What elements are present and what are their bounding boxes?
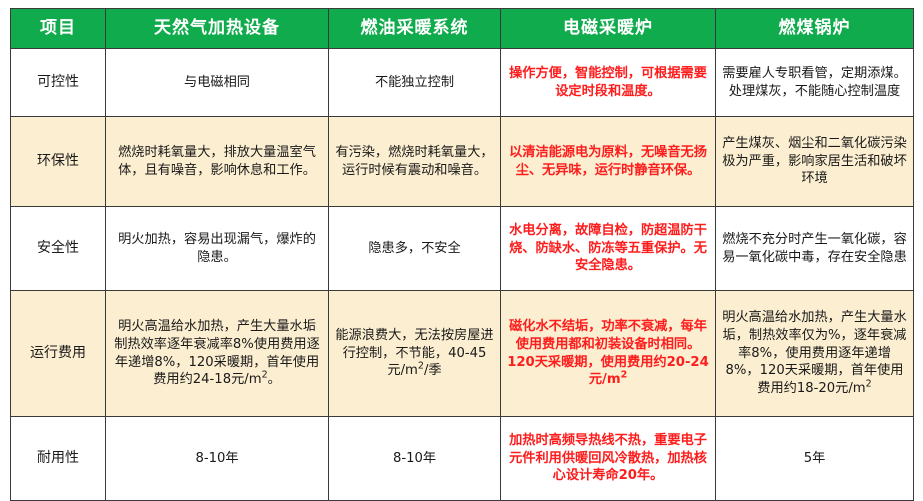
- cell-environmental-gas: 燃烧时耗氧量大，排放大量温室气体，且有噪音，影响休息和工作。: [106, 117, 329, 207]
- cell-controllability-electromagnetic: 操作方便，智能控制，可根据需要设定时段和温度。: [501, 49, 716, 117]
- cell-safety-coal: 燃烧不充分时产生一氧化碳，容易一氧化碳中毒，存在安全隐患: [716, 207, 914, 291]
- row-label-controllability: 可控性: [11, 49, 106, 117]
- row-label-environmental: 环保性: [11, 117, 106, 207]
- table-row: 耐用性 8-10年 8-10年 加热时高频导热线不热，重要电子元件利用供暖回风冷…: [11, 417, 914, 501]
- heating-comparison-table: 项目 天然气加热设备 燃油采暖系统 电磁采暖炉 燃煤锅炉 可控性 与电磁相同 不…: [10, 8, 914, 501]
- cell-operating-cost-electromagnetic: 磁化水不结垢，功率不衰减，每年使用费用都和初装设备时相同。120天采暖期，使用费…: [501, 291, 716, 417]
- cell-safety-gas: 明火加热，容易出现漏气，爆炸的隐患。: [106, 207, 329, 291]
- cell-safety-oil: 隐患多，不安全: [329, 207, 501, 291]
- row-label-safety: 安全性: [11, 207, 106, 291]
- column-header-oil: 燃油采暖系统: [329, 9, 501, 49]
- column-header-gas: 天然气加热设备: [106, 9, 329, 49]
- header-row: 项目 天然气加热设备 燃油采暖系统 电磁采暖炉 燃煤锅炉: [11, 9, 914, 49]
- column-header-coal: 燃煤锅炉: [716, 9, 914, 49]
- cell-operating-cost-oil: 能源浪费大，无法按房屋进行控制，不节能，40-45元/m2/季: [329, 291, 501, 417]
- cell-controllability-gas: 与电磁相同: [106, 49, 329, 117]
- row-label-operating-cost: 运行费用: [11, 291, 106, 417]
- column-header-item: 项目: [11, 9, 106, 49]
- table-row: 安全性 明火加热，容易出现漏气，爆炸的隐患。 隐患多，不安全 水电分离，故障自检…: [11, 207, 914, 291]
- cell-safety-electromagnetic: 水电分离，故障自检，防超温防干烧、防缺水、防冻等五重保护。无安全隐患。: [501, 207, 716, 291]
- cell-durability-oil: 8-10年: [329, 417, 501, 501]
- table-row: 可控性 与电磁相同 不能独立控制 操作方便，智能控制，可根据需要设定时段和温度。…: [11, 49, 914, 117]
- cell-environmental-coal: 产生煤灰、烟尘和二氧化碳污染极为严重，影响家居生活和破坏环境: [716, 117, 914, 207]
- cell-environmental-electromagnetic: 以清洁能源电为原料，无噪音无扬尘、无异味，运行时静音环保。: [501, 117, 716, 207]
- cell-controllability-coal: 需要雇人专职看管，定期添煤。处理煤灰，不能随心控制温度: [716, 49, 914, 117]
- cell-durability-electromagnetic: 加热时高频导热线不热，重要电子元件利用供暖回风冷散热，加热核心设计寿命20年。: [501, 417, 716, 501]
- cell-operating-cost-coal: 明火高温给水加热，产生大量水垢，制热效率仅为%，逐年衰减率8%，使用费用逐年递增…: [716, 291, 914, 417]
- page-root: 项目 天然气加热设备 燃油采暖系统 电磁采暖炉 燃煤锅炉 可控性 与电磁相同 不…: [0, 0, 923, 501]
- row-label-durability: 耐用性: [11, 417, 106, 501]
- cell-operating-cost-gas: 明火高温给水加热，产生大量水垢制热效率逐年衰减率8%使用费用逐年递增8%，120…: [106, 291, 329, 417]
- column-header-electromagnetic: 电磁采暖炉: [501, 9, 716, 49]
- table-header: 项目 天然气加热设备 燃油采暖系统 电磁采暖炉 燃煤锅炉: [11, 9, 914, 49]
- cell-controllability-oil: 不能独立控制: [329, 49, 501, 117]
- table-row: 环保性 燃烧时耗氧量大，排放大量温室气体，且有噪音，影响休息和工作。 有污染，燃…: [11, 117, 914, 207]
- cell-durability-coal: 5年: [716, 417, 914, 501]
- cell-durability-gas: 8-10年: [106, 417, 329, 501]
- table-body: 可控性 与电磁相同 不能独立控制 操作方便，智能控制，可根据需要设定时段和温度。…: [11, 49, 914, 501]
- cell-environmental-oil: 有污染，燃烧时耗氧量大，运行时候有震动和噪音。: [329, 117, 501, 207]
- table-row: 运行费用 明火高温给水加热，产生大量水垢制热效率逐年衰减率8%使用费用逐年递增8…: [11, 291, 914, 417]
